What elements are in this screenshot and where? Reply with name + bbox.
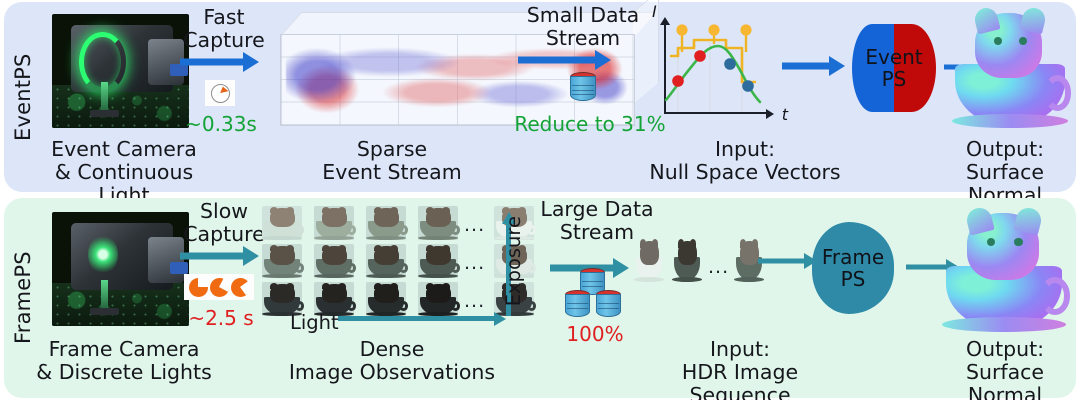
cat-ear [374,283,382,290]
cup-handle [347,263,356,273]
cat-ear [678,239,684,248]
cat-ear [286,207,294,214]
cup-handle [399,301,408,311]
event-source-caption: Event Camera & Continuous Light [36,138,212,207]
cat-ear [640,239,646,248]
normal-saucer [942,317,1066,332]
plot-canvas [664,22,768,114]
cup-handle [451,225,460,235]
event-output-caption: Output: Surface Normal [930,138,1080,207]
db-line [567,308,587,309]
dense-image-observations-grid: ... [262,206,502,318]
eventps-process-blob: Event PS [852,24,936,112]
plot-ylabel: I [652,2,657,21]
cup-handle [295,301,304,311]
cup-handle [347,301,356,311]
frame-source-caption: Frame Camera & Discrete Lights [36,338,212,384]
cat-ear [270,207,278,214]
observation-thumbnail [418,282,458,316]
cat-ear [322,245,330,252]
frame-capture-time: ~2.5 s [166,306,276,330]
red-marker-2 [694,50,706,62]
db-line [572,90,593,91]
frame-output-caption: Output: Surface Normal [930,338,1080,400]
db-line [582,281,602,282]
event-input-caption: Input: Null Space Vectors [645,138,845,184]
sample-post [101,82,108,112]
clock-icon [211,84,230,103]
slow-capture-title: Slow Capture [176,200,272,246]
database-icon [565,290,590,320]
db-line [567,303,587,304]
saucer [734,277,763,282]
plot-xlabel: t [782,105,788,124]
cat-ear [338,207,346,214]
cat-ear [286,283,294,290]
db-line [582,286,602,287]
frameps-output-normal-map [942,208,1066,332]
event-camera-photo [52,14,189,128]
frameps-process-label: Frame PS [822,246,884,290]
eventps-process-label: Event PS [865,46,922,90]
arrow-shaft [518,57,600,64]
normal-cat-eye-right [1014,238,1023,247]
grid-ellipsis-row1: ... [464,214,485,236]
yellow-marker-2 [708,24,719,35]
db-body [596,294,621,317]
database-icon-group-large [560,268,630,326]
frame-input-caption: Input: HDR Image Sequence [630,338,850,400]
cup-handle [527,301,536,311]
db-body [565,294,590,317]
db-line [572,85,593,86]
normal-cup-handle [1040,277,1070,314]
database-icon-group-small [570,72,596,106]
saucer [672,277,701,282]
cat-ear [270,283,278,290]
cup-handle [399,225,408,235]
slow-capture-arrow [180,246,262,266]
clock-icon [189,278,208,297]
saucer [634,277,663,282]
clock-icon [210,278,229,297]
arrow-shaft [180,253,248,260]
sparse-stream-caption: Sparse Event Stream [300,138,484,184]
cat-ear [442,245,450,252]
normal-cup-handle [1044,75,1072,111]
cat-ear [374,245,382,252]
observation-thumbnail [366,282,406,316]
cat-ear [426,245,434,252]
sample-post [101,280,108,310]
saucer [262,274,301,278]
saucer [262,236,301,240]
slow-capture-clock-icons [184,274,254,300]
green-point-light [88,235,118,274]
arrow-head [595,50,614,70]
cat-ear [390,245,398,252]
post-base [90,308,119,315]
small-data-stream-title: Small Data Stream [513,4,653,50]
observation-thumbnail [418,244,458,278]
cat-ear [426,283,434,290]
cup-handle [451,263,460,273]
cat-ear [286,245,294,252]
blue-marker-2 [742,80,754,92]
fast-capture-title: Fast Capture [176,6,272,52]
cat-ear [752,239,758,248]
red-marker-1 [672,75,684,87]
eventps-output-normal-map [952,8,1068,128]
arrow-shaft [782,63,834,70]
db-line [572,94,593,95]
hdr-image-sequence: ... [634,238,764,288]
arrow-head [829,56,848,76]
arrow-head [243,246,262,266]
db-body [570,76,596,100]
yellow-marker-1 [676,24,687,35]
cat-ear [270,245,278,252]
normal-cat-eye-left [994,37,1002,45]
saucer [418,274,457,278]
saucer [314,236,353,240]
cat-ear [338,283,346,290]
saucer [366,236,405,240]
db-line [598,303,618,304]
cup-handle [451,301,460,311]
small-data-stream-arrow [518,50,614,70]
cup-handle [347,225,356,235]
clock-icon [231,278,250,297]
yellow-marker-3 [740,24,751,35]
post-base [90,110,119,117]
saucer [418,236,457,240]
frameps-process-blob: Frame PS [812,222,894,314]
cat-ear [442,283,450,290]
grid-ellipsis-row3: ... [464,290,485,312]
observation-thumbnail [366,244,406,278]
database-icon [570,72,596,104]
hdr-ellipsis: ... [708,256,729,278]
normal-saucer [952,114,1068,128]
database-icon [596,290,621,320]
fast-capture-clock-icons [205,80,235,106]
saucer [314,274,353,278]
cat-ear [426,207,434,214]
observation-thumbnail [262,244,302,278]
exposure-axis-label: Exposure [503,216,525,306]
db-line [598,308,618,309]
cat-ear [322,207,330,214]
null-space-vectors-plot: I t [664,22,768,114]
blue-marker-1 [724,58,736,70]
cat-ear [390,283,398,290]
cat-ear [518,207,526,214]
cat-ear [442,207,450,214]
observation-thumbnail [314,244,354,278]
cup-handle [295,225,304,235]
light-axis-arrow [338,314,506,324]
to-eventps-arrow [782,56,848,76]
event-data-reduction: Reduce to 31% [500,112,680,136]
cup-handle [527,263,536,273]
grid-ellipsis-row2: ... [464,252,485,274]
observation-thumbnail [262,206,302,240]
fast-capture-arrow [180,52,262,72]
arrow-head [243,52,262,72]
observation-thumbnail [314,206,354,240]
saucer [366,274,405,278]
axis-shaft [338,316,495,321]
light-axis-label: Light [290,312,354,334]
cat-ear [374,207,382,214]
cup-handle [399,263,408,273]
to-frameps-arrow [758,252,820,270]
cat-ear [652,239,658,248]
dense-stream-caption: Dense Image Observations [282,338,502,384]
cat-ear [740,239,746,248]
cat-ear [338,245,346,252]
cat-ear [690,239,696,248]
cat-ear [390,207,398,214]
arrow-shaft [180,59,248,66]
observation-thumbnail [418,206,458,240]
cat-ear [322,283,330,290]
cup-handle [295,263,304,273]
arrow-shaft [758,259,808,264]
hdr-thumbnail [634,238,664,282]
event-capture-time: ~0.33s [166,112,276,136]
observation-thumbnail [366,206,406,240]
hdr-thumbnail [672,238,702,282]
pipeline-figure: EventPS Event Camera & Continuous Light … [0,0,1080,400]
